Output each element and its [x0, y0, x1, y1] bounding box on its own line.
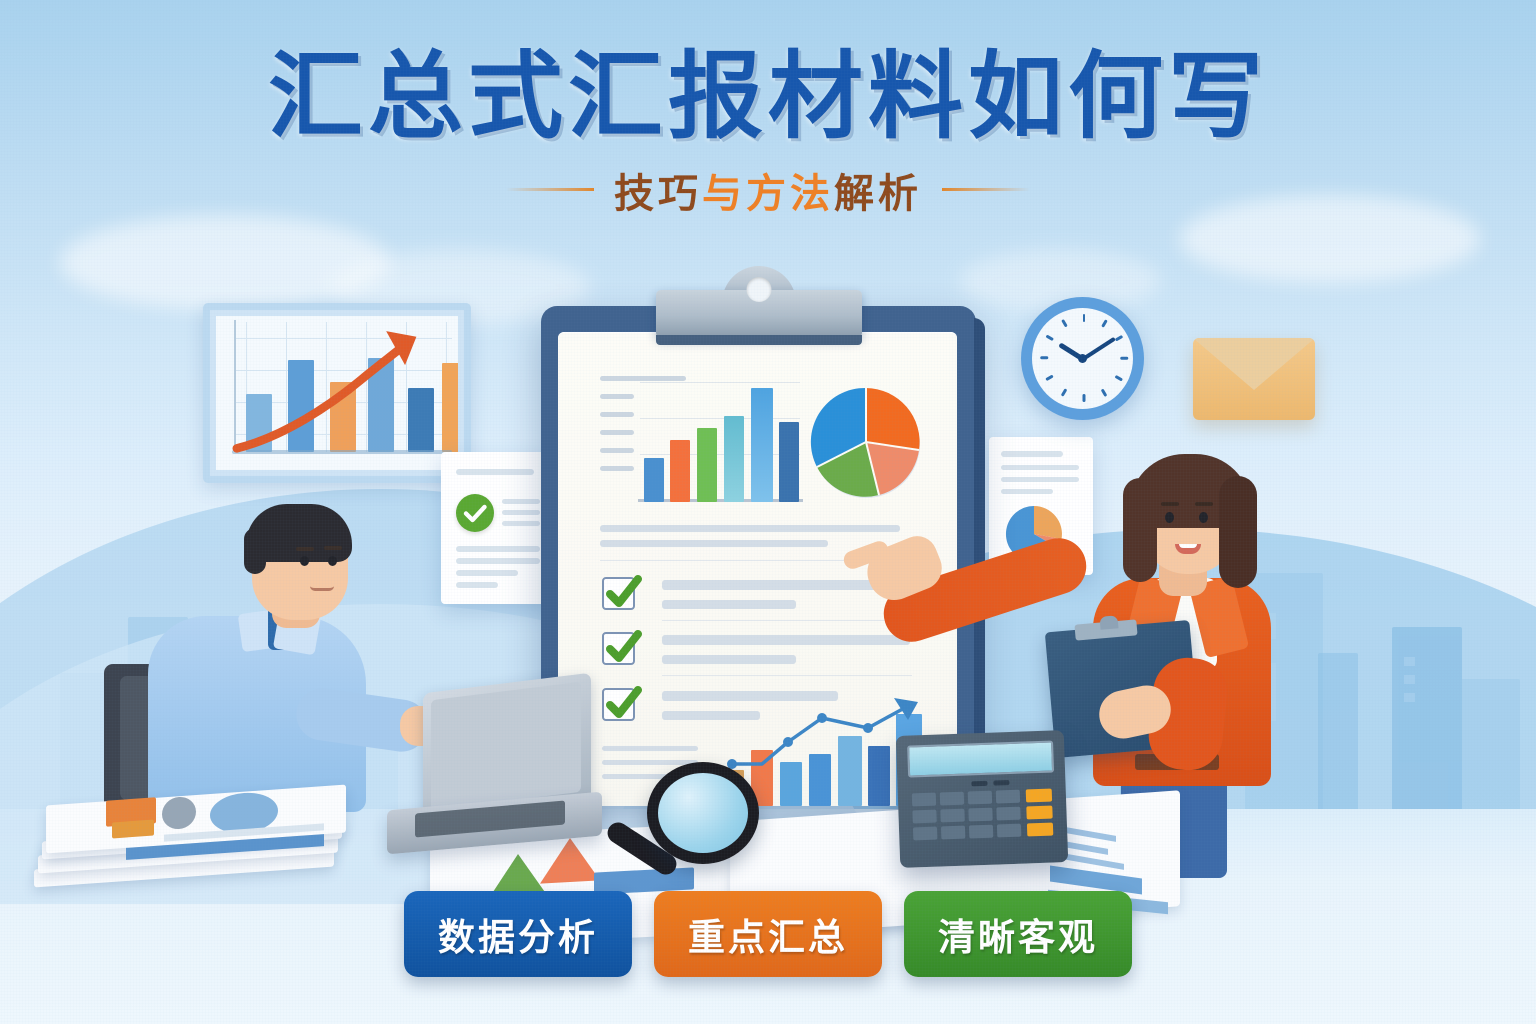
check-icon	[601, 625, 645, 669]
subtitle-rule-left	[506, 188, 594, 191]
badge-clear-objective[interactable]: 清晰客观	[904, 891, 1132, 977]
calculator-display	[907, 740, 1054, 777]
badge-data-analysis[interactable]: 数据分析	[404, 891, 632, 977]
wall-bar-chart	[203, 303, 471, 483]
badge-row: 数据分析 重点汇总 清晰客观	[0, 891, 1536, 977]
poster-canvas: 汇总式汇报材料如何写 技巧与方法解析	[0, 0, 1536, 1024]
checkbox-checked[interactable]	[602, 632, 635, 665]
badge-key-summary[interactable]: 重点汇总	[654, 891, 882, 977]
trend-arrow-icon	[216, 316, 458, 470]
clipboard-pie-chart	[807, 384, 925, 502]
check-icon	[601, 570, 645, 614]
subtitle-rule-right	[942, 188, 1030, 191]
checkbox-checked[interactable]	[602, 688, 635, 721]
page-subtitle: 技巧与方法解析	[614, 161, 922, 219]
subtitle-part-left: 技巧	[614, 171, 702, 217]
clipboard-bar-chart	[600, 372, 805, 502]
check-circle-icon	[456, 494, 494, 532]
checkbox-checked[interactable]	[602, 577, 635, 610]
laptop	[387, 683, 597, 863]
subtitle-part-right: 解析	[834, 171, 922, 217]
title-block: 汇总式汇报材料如何写 技巧与方法解析	[0, 46, 1536, 219]
envelope-icon	[1193, 338, 1315, 420]
paper-stack	[34, 795, 354, 905]
page-title: 汇总式汇报材料如何写	[0, 46, 1536, 149]
wall-clock	[1021, 297, 1144, 420]
calculator[interactable]	[896, 730, 1069, 868]
check-icon	[601, 681, 645, 725]
subtitle-row: 技巧与方法解析	[0, 161, 1536, 219]
subtitle-part-highlight: 与方法	[702, 171, 834, 217]
